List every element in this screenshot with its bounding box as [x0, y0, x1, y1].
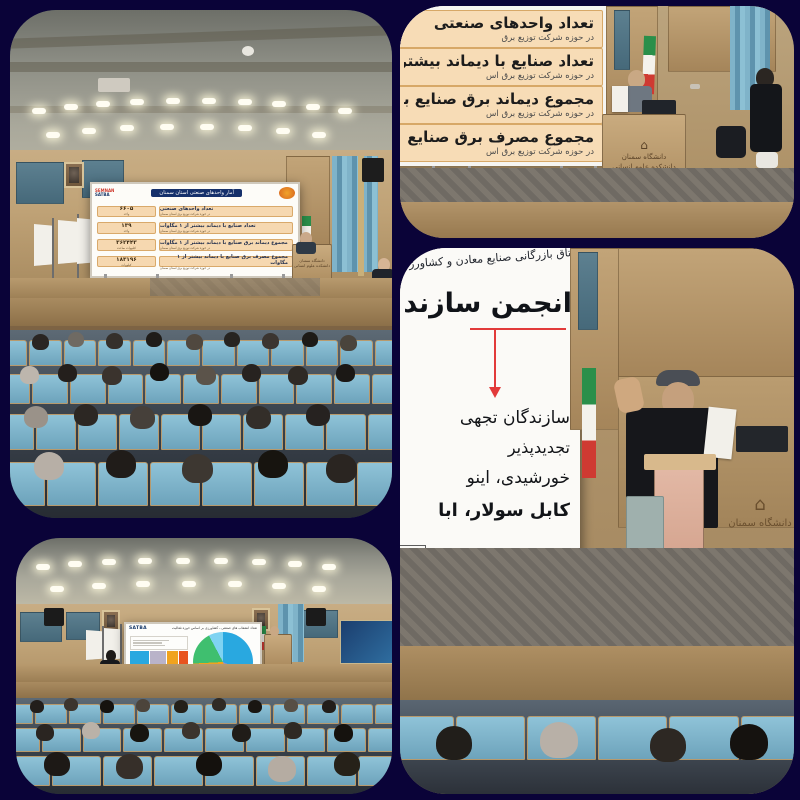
ceiling-light-row [16, 556, 392, 568]
table-flag-satba [703, 407, 736, 460]
presentation-screen[interactable]: SEMNAN SATBA آمار واحدهای صنعتی استان سم… [90, 182, 300, 278]
wall-panel [578, 252, 598, 330]
speaker-closeup-scene: تعداد واحدهای صنعتی در حوزه شرکت توزیع ب… [400, 6, 794, 238]
slide-title: آمار واحدهای صنعتی استان سمنان [151, 189, 242, 197]
ceiling-beam [10, 62, 392, 72]
wall-banner [340, 620, 392, 664]
slide-row-title: تعداد صنایع با دیماند بیشتر از ۱ [404, 52, 594, 70]
dome-camera [242, 46, 254, 56]
row-unit: کیلووات ساعت [117, 246, 136, 250]
panel-bottom-right[interactable]: اتاق بازرگانی صنایع معادن و کشاورزی انجم… [400, 248, 794, 794]
slide-row-sub: در حوزه شرکت توزیع برق اس [404, 109, 594, 119]
attendee-shoes [756, 152, 778, 168]
table-row: ۱۳۹واحد تعداد صنایع با دیماند بیشتر از ۱… [97, 222, 293, 233]
stage-front [10, 298, 392, 328]
row-unit: واحد [124, 229, 130, 233]
podium-logo: ⌂ دانشگاه سمناندانشکده علوم انسانی [603, 137, 685, 172]
satba-logo-text: SATBA [95, 192, 110, 197]
utility-logo-icon [279, 187, 295, 199]
slide-line: سازندگان تجهی [460, 408, 570, 428]
wall-panel [614, 10, 630, 70]
auditorium-wide-scene: SEMNAN SATBA آمار واحدهای صنعتی استان سم… [10, 10, 392, 518]
wall-speaker [306, 608, 326, 626]
table-row: ۳۶۲۴۴۳کیلووات ساعت مجموع دیماند برق صنای… [97, 239, 293, 250]
standing-speaker-scene: اتاق بازرگانی صنایع معادن و کشاورزی انجم… [400, 248, 794, 794]
panel-bottom-left[interactable]: SATBA تعداد انشعاب های صنعتی ـ کشاورزی ب… [16, 538, 392, 794]
slide-header: اتاق بازرگانی صنایع معادن و کشاورزی [400, 248, 574, 271]
backpack [716, 126, 746, 158]
table-row: ۱۸۳۱۹۶کیلووات مجموع مصرف برق صنایع با دی… [97, 256, 293, 267]
slide-title: انجمن سازند [403, 288, 572, 319]
wall-speaker [362, 158, 384, 182]
podium-logo: دانشگاه سمناندانشکده علوم انسانی [293, 259, 331, 268]
chart-title: تعداد انشعاب های صنعتی ـ کشاورزی بر اساس… [172, 626, 257, 630]
slide-row: مجموع دیماند برق صنایع با دیم در حوزه شر… [400, 86, 603, 124]
ceiling-light-row [10, 122, 392, 134]
row-unit: واحد [124, 212, 130, 216]
ceiling [16, 538, 392, 605]
stage-floor [16, 664, 392, 682]
stage-floor [400, 646, 794, 706]
slide-row-sub: در حوزه شرکت توزیع برق اس [404, 147, 594, 157]
flag-satba [58, 220, 77, 264]
chart-legend [130, 636, 188, 649]
slide-association: اتاق بازرگانی صنایع معادن و کشاورزی انجم… [400, 248, 580, 572]
podium-wall-logo: ⌂ دانشگاه سمنان [726, 492, 794, 531]
stage-floor [400, 202, 794, 238]
slide-statistics: SEMNAN SATBA آمار واحدهای صنعتی استان سم… [92, 184, 298, 276]
floor-carpet [400, 548, 794, 658]
projected-slide[interactable]: تعداد واحدهای صنعتی در حوزه شرکت توزیع ب… [400, 6, 608, 166]
speaker-head [270, 626, 279, 636]
wall-panel [16, 162, 64, 204]
slide-row-sub: در حوزه شرکت توزیع برق اس [404, 71, 594, 81]
row-sublabel: در حوزه شرکت توزیع برق استان سمنان [160, 246, 210, 250]
row-sublabel: در حوزه شرکت توزیع برق استان سمنان [160, 212, 210, 216]
slide-row: تعداد صنایع با دیماند بیشتر از ۱ در حوزه… [400, 48, 603, 86]
microphone [690, 84, 700, 89]
table-flag-satba [612, 86, 628, 112]
audience-area [10, 330, 392, 518]
row-unit: کیلووات [121, 263, 131, 267]
panel-top-right[interactable]: تعداد واحدهای صنعتی در حوزه شرکت توزیع ب… [400, 6, 794, 238]
table-row: ۶۶۰۵واحد تعداد واحدهای صنعتیدر حوزه شرکت… [97, 206, 293, 217]
foreground-audience [400, 700, 794, 794]
slide-row-title: مجموع مصرف برق صنایع با دیم [404, 128, 594, 146]
wall-speaker [44, 608, 64, 626]
ceiling-light-row [16, 578, 392, 590]
stage-carpet [150, 278, 320, 296]
panel-top-left[interactable]: SEMNAN SATBA آمار واحدهای صنعتی استان سم… [10, 10, 392, 518]
slide-row-title: تعداد واحدهای صنعتی [404, 14, 594, 32]
attendee-body [750, 84, 782, 152]
slide-line: تجدیدپذیر [508, 438, 570, 457]
down-arrow-icon [470, 328, 566, 398]
semnan-logo: SEMNAN SATBA [95, 189, 114, 197]
statistics-rows: ۶۶۰۵واحد تعداد واحدهای صنعتیدر حوزه شرکت… [95, 200, 295, 274]
photo-collage: SEMNAN SATBA آمار واحدهای صنعتی استان سم… [0, 0, 800, 800]
slide-row-title: مجموع دیماند برق صنایع با دیم [404, 90, 594, 108]
monitor [736, 426, 788, 452]
podium-top [644, 454, 716, 470]
flag-satba [86, 630, 102, 660]
slide-row: مجموع مصرف برق صنایع با دیم در حوزه شرکت… [400, 124, 603, 162]
projector [98, 78, 130, 92]
projected-slide[interactable]: اتاق بازرگانی صنایع معادن و کشاورزی انجم… [400, 248, 580, 572]
slide-statistics-closeup: تعداد واحدهای صنعتی در حوزه شرکت توزیع ب… [400, 6, 608, 166]
slide-row: تعداد واحدهای صنعتی در حوزه شرکت توزیع ب… [400, 10, 603, 48]
row-sublabel: در حوزه شرکت توزیع برق استان سمنان [160, 229, 210, 233]
slide-line: کابل سولار، ابا [438, 500, 570, 521]
slide-line: خورشیدی، اینو [467, 468, 570, 488]
portrait-frame [64, 162, 84, 188]
wood-wall-block [618, 248, 794, 378]
slide-row-sub: در حوزه شرکت توزیع برق [404, 33, 594, 43]
flag-satba [34, 224, 52, 266]
iran-flag [582, 368, 596, 478]
audience-area [16, 698, 392, 794]
ceiling-light-row [10, 98, 392, 110]
seated-speaker-body [296, 242, 316, 254]
row-label: مجموع مصرف برق صنایع با دیماند بیشتر از … [160, 254, 288, 266]
hall-piechart-scene: SATBA تعداد انشعاب های صنعتی ـ کشاورزی ب… [16, 538, 392, 794]
wall-box [626, 496, 664, 554]
row-sublabel: در حوزه شرکت توزیع برق استان سمنان [160, 266, 210, 270]
